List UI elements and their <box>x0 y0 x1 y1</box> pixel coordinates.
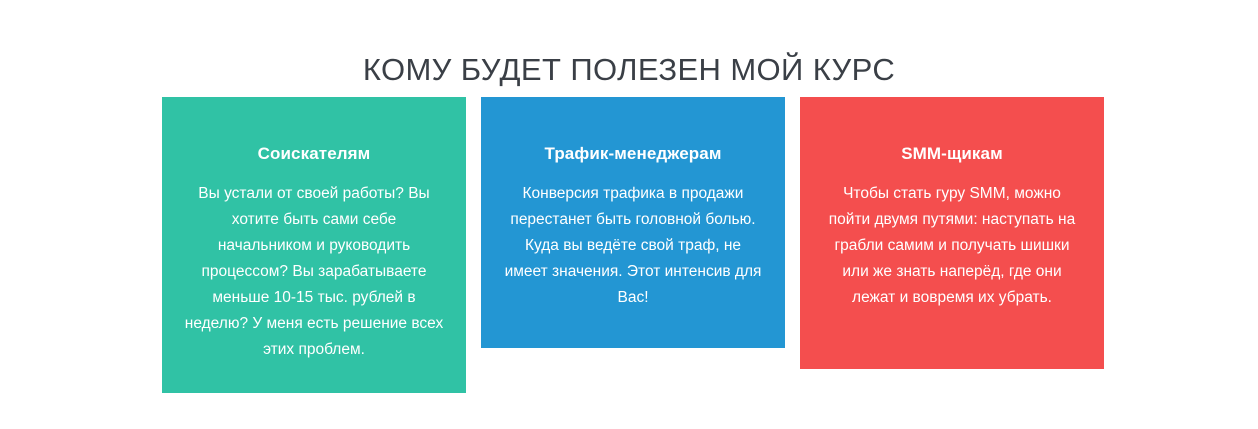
audience-card-description: Вы устали от своей работы? Вы хотите быт… <box>180 181 448 363</box>
audience-card-soiskatelyam: Соискателям Вы устали от своей работы? В… <box>162 97 466 393</box>
audience-card-description: Чтобы стать гуру SMM, можно пойти двумя … <box>818 181 1086 311</box>
page-title: КОМУ БУДЕТ ПОЛЕЗЕН МОЙ КУРС <box>0 50 1258 90</box>
audience-card-description: Конверсия трафика в продажи перестанет б… <box>499 181 767 311</box>
audience-card-title: Соискателям <box>180 143 448 165</box>
audience-card-traffic-managers: Трафик-менеджерам Конверсия трафика в пр… <box>481 97 785 348</box>
audience-card-smm: SMM-щикам Чтобы стать гуру SMM, можно по… <box>800 97 1104 369</box>
audience-card-title: Трафик-менеджерам <box>499 143 767 165</box>
audience-card-list: Соискателям Вы устали от своей работы? В… <box>162 97 1104 393</box>
audience-card-title: SMM-щикам <box>818 143 1086 165</box>
audience-section: КОМУ БУДЕТ ПОЛЕЗЕН МОЙ КУРС Соискателям … <box>0 0 1258 429</box>
